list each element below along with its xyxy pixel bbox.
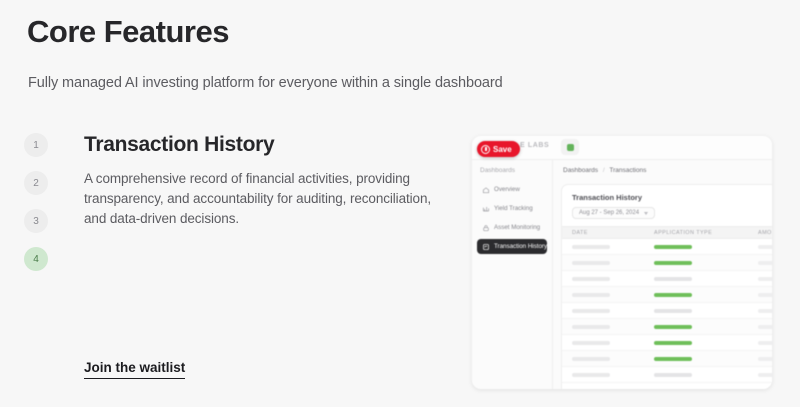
sidebar-section-label: Dashboards (480, 167, 515, 174)
cell-date-placeholder (572, 325, 610, 329)
cell-date-placeholder (572, 357, 610, 361)
sidebar-item-overview[interactable]: Overview (477, 182, 547, 197)
cell-date-placeholder (572, 277, 610, 281)
cell-date-placeholder (572, 293, 610, 297)
cell-type-placeholder (654, 277, 692, 281)
cell-type-placeholder (654, 309, 692, 313)
cell-amount-placeholder (758, 293, 772, 297)
table-row[interactable] (562, 255, 772, 271)
cell-type-placeholder (654, 293, 692, 297)
table-header-row: DATE APPLICATION TYPE AMOUNT (562, 226, 772, 239)
record-icon (481, 145, 490, 154)
table-row[interactable] (562, 335, 772, 351)
cell-amount-placeholder (758, 357, 772, 361)
chevron-down-icon (644, 212, 648, 215)
panel-title: Transaction History (572, 193, 642, 202)
cell-type-placeholder (654, 325, 692, 329)
column-header-date[interactable]: DATE (572, 230, 588, 236)
dashboard-mockup: E LABS Save Dashboards Overview (472, 136, 772, 389)
save-button[interactable]: Save (477, 141, 520, 157)
mockup-main: Dashboards / Transactions Transaction Hi… (553, 160, 772, 389)
page-root: Core Features Fully managed AI investing… (0, 0, 800, 407)
date-range-value: Aug 27 - Sep 26, 2024 (579, 210, 639, 216)
lock-icon (482, 224, 490, 232)
cell-amount-placeholder (758, 309, 772, 313)
step-indicator-4[interactable]: 4 (24, 247, 48, 271)
table-row[interactable] (562, 367, 772, 383)
table-row[interactable] (562, 239, 772, 255)
sidebar-item-transaction-history[interactable]: Transaction History (477, 239, 547, 254)
join-waitlist-link[interactable]: Join the waitlist (84, 360, 185, 379)
date-range-selector[interactable]: Aug 27 - Sep 26, 2024 (572, 207, 655, 219)
status-dot-icon (567, 144, 574, 151)
column-header-application-type[interactable]: APPLICATION TYPE (654, 230, 712, 236)
step-indicator-3[interactable]: 3 (24, 209, 48, 233)
cell-amount-placeholder (758, 341, 772, 345)
feature-content: Transaction History A comprehensive reco… (84, 133, 434, 229)
status-chip (561, 139, 579, 155)
receipt-icon (482, 243, 490, 251)
page-title: Core Features (27, 14, 229, 50)
sidebar-item-yield-tracking[interactable]: Yield Tracking (477, 201, 547, 216)
cell-amount-placeholder (758, 325, 772, 329)
save-button-label: Save (493, 145, 512, 154)
table-body (562, 239, 772, 383)
sidebar-item-label: Yield Tracking (494, 205, 533, 212)
cell-amount-placeholder (758, 373, 772, 377)
cell-type-placeholder (654, 357, 692, 361)
brand-logo-text: E LABS (520, 142, 549, 149)
cell-date-placeholder (572, 245, 610, 249)
sidebar-item-label: Overview (494, 186, 520, 193)
chart-icon (482, 205, 490, 213)
breadcrumb-current: Transactions (609, 167, 646, 174)
cell-type-placeholder (654, 261, 692, 265)
cell-date-placeholder (572, 341, 610, 345)
sidebar-nav: Overview Yield Tracking Asset Monitoring (477, 182, 547, 258)
feature-step-rail: 1 2 3 4 (24, 133, 52, 285)
home-icon (482, 186, 490, 194)
table-row[interactable] (562, 319, 772, 335)
cell-type-placeholder (654, 373, 692, 377)
cell-type-placeholder (654, 245, 692, 249)
cell-date-placeholder (572, 373, 610, 377)
sidebar-item-asset-monitoring[interactable]: Asset Monitoring (477, 220, 547, 235)
table-row[interactable] (562, 287, 772, 303)
cell-amount-placeholder (758, 277, 772, 281)
cell-amount-placeholder (758, 261, 772, 265)
mockup-sidebar: Dashboards Overview Yield Tracking (472, 160, 553, 389)
transaction-panel: Transaction History Aug 27 - Sep 26, 202… (561, 184, 772, 389)
step-indicator-1[interactable]: 1 (24, 133, 48, 157)
feature-description: A comprehensive record of financial acti… (84, 169, 434, 229)
cell-type-placeholder (654, 341, 692, 345)
feature-title: Transaction History (84, 133, 434, 157)
page-subtitle: Fully managed AI investing platform for … (28, 75, 503, 91)
table-row[interactable] (562, 351, 772, 367)
cell-date-placeholder (572, 261, 610, 265)
column-header-amount[interactable]: AMOUNT (758, 230, 772, 236)
breadcrumb-root[interactable]: Dashboards (563, 167, 598, 174)
breadcrumb: Dashboards / Transactions (563, 167, 646, 174)
sidebar-item-label: Asset Monitoring (494, 224, 540, 231)
cell-date-placeholder (572, 309, 610, 313)
breadcrumb-separator: / (603, 167, 605, 174)
cell-amount-placeholder (758, 245, 772, 249)
sidebar-item-label: Transaction History (494, 243, 547, 250)
step-indicator-2[interactable]: 2 (24, 171, 48, 195)
table-row[interactable] (562, 271, 772, 287)
table-row[interactable] (562, 303, 772, 319)
